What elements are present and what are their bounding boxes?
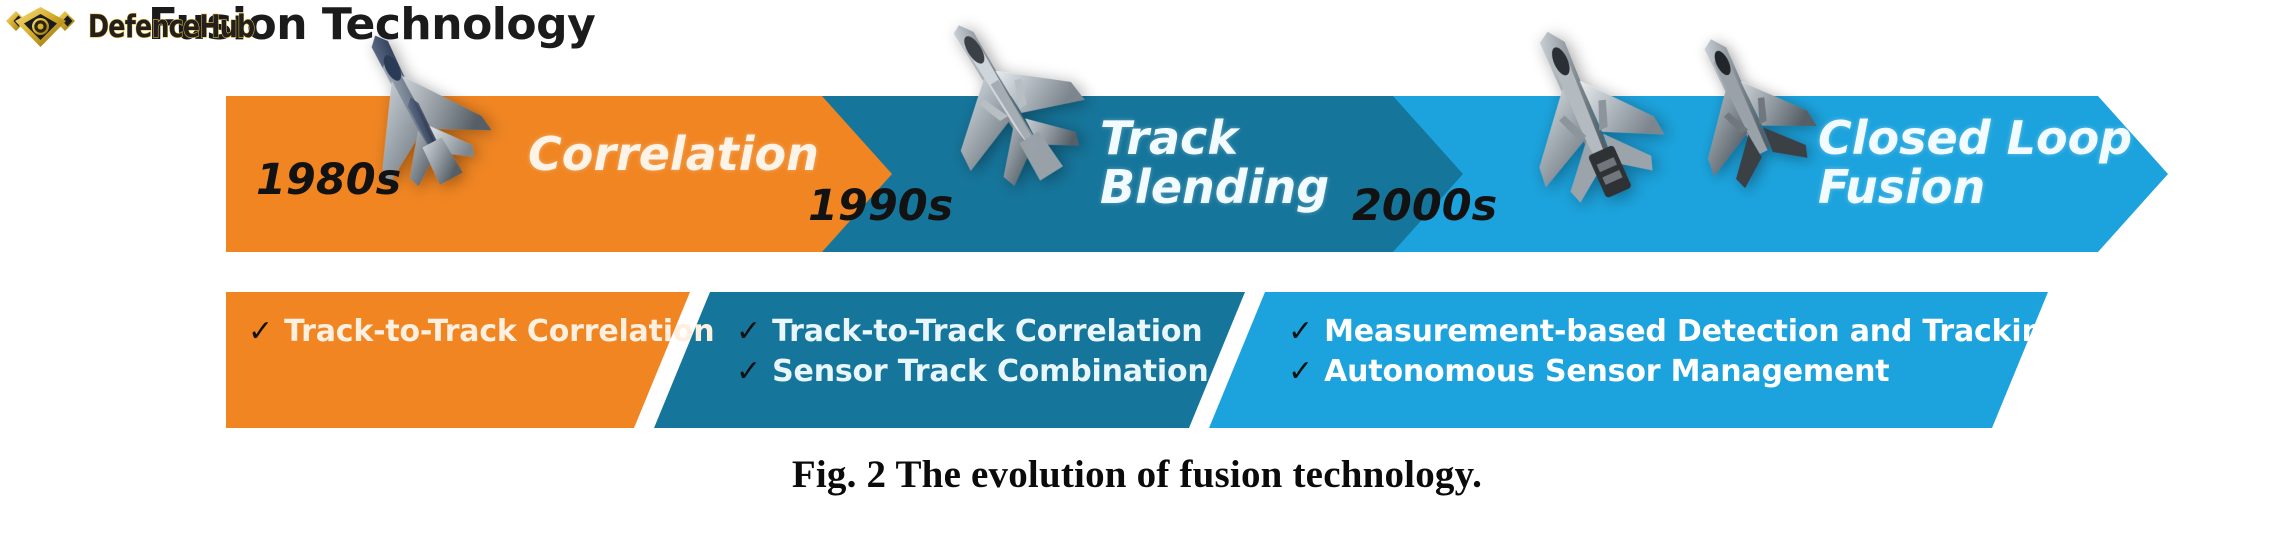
check-icon: ✓	[1288, 317, 1313, 347]
diamond-emblem-icon	[6, 5, 80, 49]
capability-label: Track-to-Track Correlation	[284, 312, 714, 352]
list-item: ✓ Sensor Track Combination	[736, 352, 1209, 392]
list-item: ✓ Autonomous Sensor Management	[1288, 352, 2064, 392]
capability-label: Autonomous Sensor Management	[1324, 352, 1889, 392]
stage-decade-2000s: 2000s	[1352, 184, 1497, 230]
check-icon: ✓	[1288, 357, 1313, 387]
list-item: ✓ Track-to-Track Correlation	[736, 312, 1209, 352]
stage-phase-2000s: Closed Loop Fusion	[1818, 114, 2132, 212]
figure-caption: Fig. 2 The evolution of fusion technolog…	[0, 452, 2274, 497]
capability-label: Track-to-Track Correlation	[772, 312, 1202, 352]
stage-decade-1990s: 1990s	[808, 184, 953, 230]
figure-page: DefenceHub Fusion Technology	[0, 0, 2274, 559]
check-icon: ✓	[248, 317, 273, 347]
stage-decade-1980s: 1980s	[256, 158, 401, 204]
list-item: ✓ Measurement-based Detection and Tracki…	[1288, 312, 2064, 352]
capability-list-1990s: ✓ Track-to-Track Correlation ✓ Sensor Tr…	[736, 312, 1209, 391]
capability-label: Measurement-based Detection and Tracking	[1324, 312, 2064, 352]
capability-label: Sensor Track Combination	[772, 352, 1208, 392]
stage-phase-1980s: Correlation	[528, 130, 819, 179]
list-item: ✓ Track-to-Track Correlation	[248, 312, 714, 352]
stage-phase-1990s: Track Blending	[1100, 114, 1329, 212]
capability-list-1980s: ✓ Track-to-Track Correlation	[248, 312, 714, 352]
watermark-brand: DefenceHub	[88, 12, 254, 43]
check-icon: ✓	[736, 357, 761, 387]
watermark: DefenceHub	[6, 4, 291, 50]
capability-list-2000s: ✓ Measurement-based Detection and Tracki…	[1288, 312, 2064, 391]
check-icon: ✓	[736, 317, 761, 347]
